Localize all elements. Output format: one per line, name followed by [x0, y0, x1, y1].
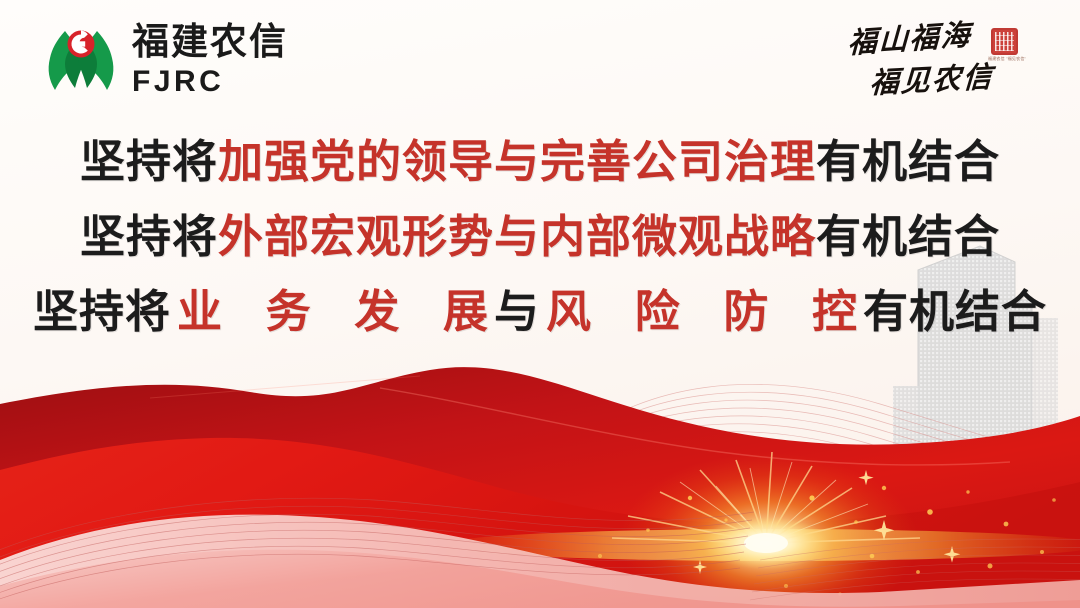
seal-caption: 福建农信 "福见农信" — [988, 56, 1046, 62]
seal-pattern — [995, 32, 1014, 51]
slogan-2-suffix: 有机结合 — [816, 210, 1000, 263]
brand-name-en: FJRC — [132, 67, 288, 97]
slogan-line-1: 坚持将加强党的领导与完善公司治理有机结合 — [0, 124, 1080, 199]
brand-wordmark: 福建农信 FJRC — [132, 23, 288, 97]
slogan-1-highlight: 加强党的领导与完善公司治理 — [218, 135, 816, 188]
slogan-line-2: 坚持将外部宏观形势与内部微观战略有机结合 — [0, 199, 1080, 274]
calligraphy-line-2: 福见农信 — [869, 53, 995, 102]
slogan-2-prefix: 坚持将 — [80, 210, 218, 263]
slogan-1-suffix: 有机结合 — [816, 135, 1000, 188]
fjrc-hands-coin-logo — [44, 22, 118, 98]
brand-lockup: 福建农信 FJRC — [44, 22, 288, 98]
slogan-block: 坚持将加强党的领导与完善公司治理有机结合 坚持将外部宏观形势与内部微观战略有机结… — [0, 124, 1080, 349]
slogan-3-highlight-a: 业 务 发 展 — [171, 285, 508, 338]
slogan-1-prefix: 坚持将 — [80, 135, 218, 188]
slogan-3-highlight-b: 风 险 防 控 — [540, 285, 877, 338]
poster-canvas: 福建农信 FJRC 福山福海 福见农信 福建农信 "福见农信" 坚持将加强党的领… — [0, 0, 1080, 608]
slogan-line-3: 坚持将业 务 发 展与风 险 防 控有机结合 — [0, 274, 1080, 349]
slogan-3-suffix: 有机结合 — [863, 285, 1047, 338]
calligraphy-block: 福山福海 福见农信 福建农信 "福见农信" — [844, 18, 1044, 106]
calligraphy-line-1: 福山福海 — [847, 11, 972, 62]
slogan-2-highlight: 外部宏观形势与内部微观战略 — [218, 210, 816, 263]
slogan-3-connector: 与 — [494, 285, 540, 338]
red-seal-stamp — [991, 28, 1018, 55]
brand-name-cn: 福建农信 — [132, 23, 288, 60]
slogan-3-prefix: 坚持将 — [33, 285, 171, 338]
